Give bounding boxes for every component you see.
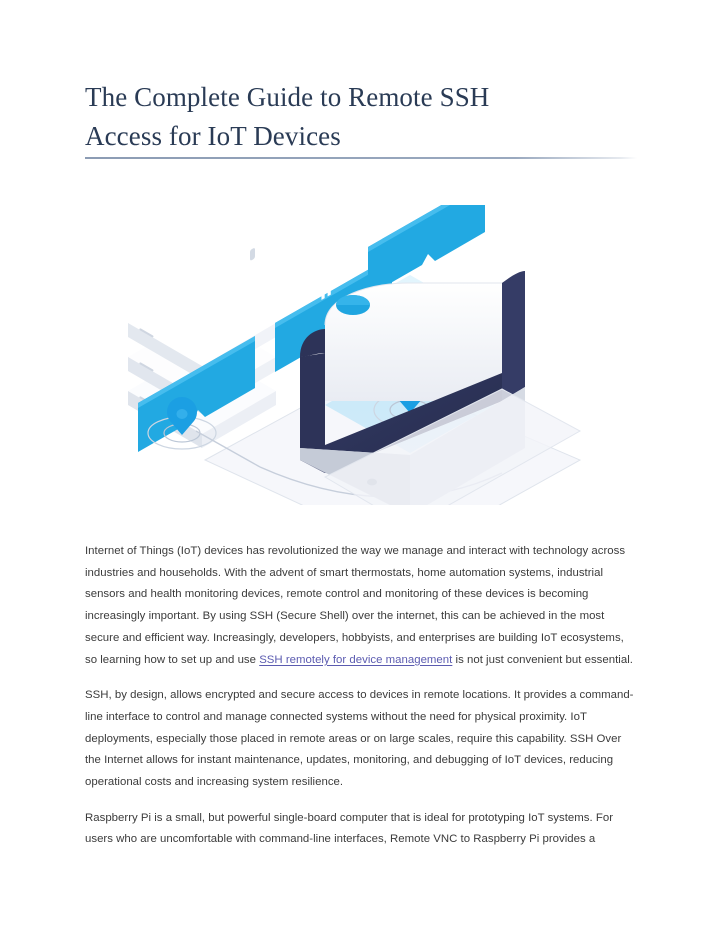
paragraph-ssh-design-text: SSH, by design, allows encrypted and sec… (85, 689, 633, 788)
document-page: The Complete Guide to Remote SSH Access … (0, 0, 720, 931)
iot-remote-ssh-isometric-illustration: IP (110, 205, 630, 505)
title-block: The Complete Guide to Remote SSH Access … (85, 78, 645, 156)
paragraph-intro-text-1: Internet of Things (IoT) devices has rev… (85, 545, 625, 666)
body-copy: Internet of Things (IoT) devices has rev… (85, 541, 638, 851)
paragraph-ssh-design: SSH, by design, allows encrypted and sec… (85, 685, 638, 794)
paragraph-intro: Internet of Things (IoT) devices has rev… (85, 541, 638, 671)
speech-bubble-right (368, 205, 485, 296)
paragraph-intro-text-2: is not just convenient but essential. (452, 654, 633, 666)
paragraph-raspberry-pi-text: Raspberry Pi is a small, but powerful si… (85, 812, 613, 846)
title-divider (85, 157, 637, 159)
paragraph-raspberry-pi: Raspberry Pi is a small, but powerful si… (85, 808, 638, 851)
page-title: The Complete Guide to Remote SSH Access … (85, 78, 645, 156)
camera-dome (336, 295, 370, 315)
ssh-remote-device-management-link[interactable]: SSH remotely for device management (259, 654, 452, 666)
